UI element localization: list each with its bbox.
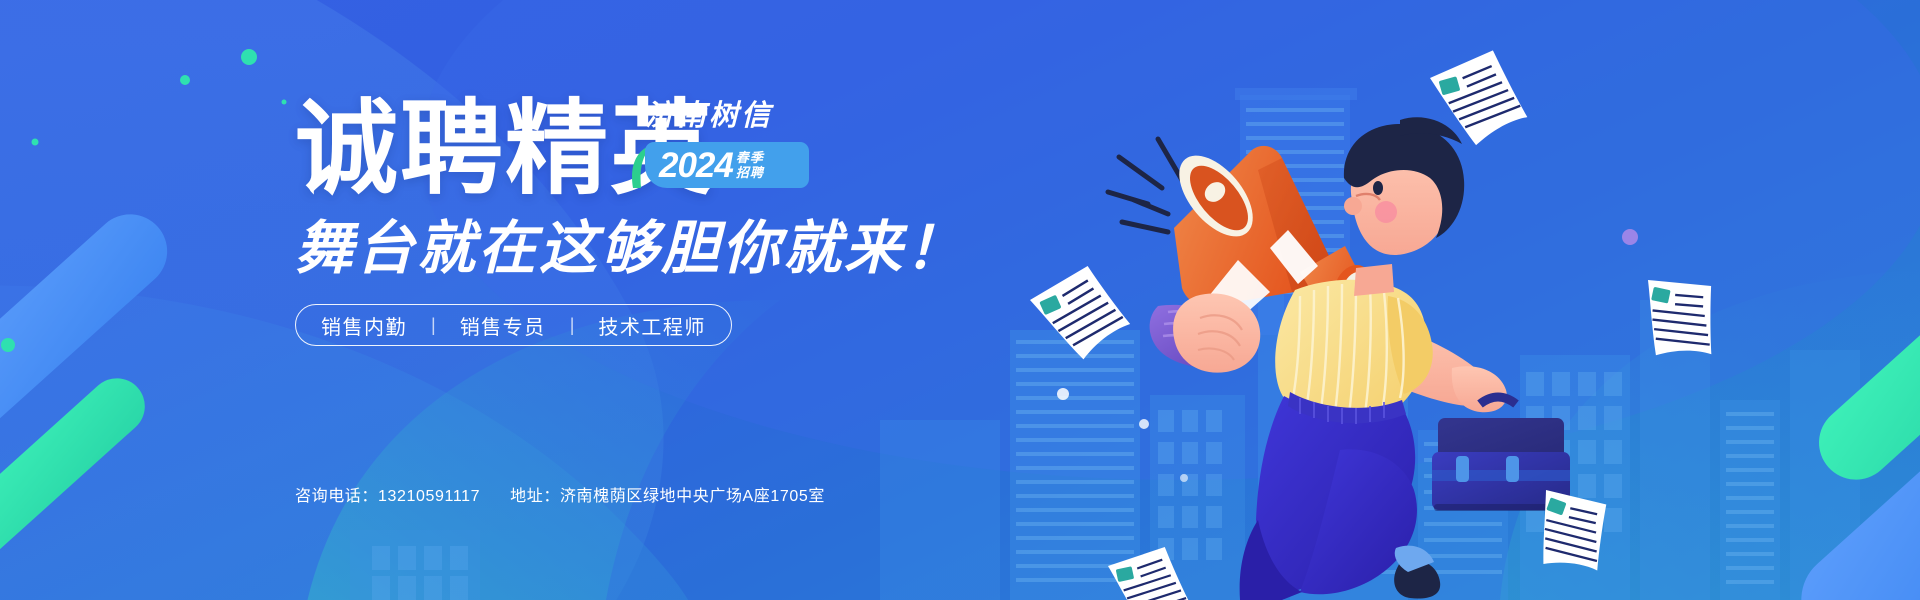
contact-phone-value: 13210591117 <box>378 488 480 505</box>
contact-address-label: 地址： <box>510 488 560 505</box>
tag-separator: | <box>570 315 575 336</box>
subtitle: 舞台就在这够胆你就来！ <box>295 220 1055 278</box>
contact-address-value: 济南槐荫区绿地中央广场A座1705室 <box>560 488 825 505</box>
job-tag-3[interactable]: 技术工程师 <box>598 311 706 340</box>
headline-row: 诚聘精英 济南树信 2024 春季 招聘 <box>295 88 1055 200</box>
resume-document-icon <box>1107 544 1194 600</box>
resume-document-icon <box>1427 46 1530 152</box>
banner-text-block: 诚聘精英 济南树信 2024 春季 招聘 <box>295 88 1055 348</box>
badge-season-line2: 招聘 <box>736 165 764 180</box>
contact-phone-label: 咨询电话： <box>295 488 378 505</box>
tag-separator: | <box>431 315 436 336</box>
recruitment-banner: 诚聘精英 济南树信 2024 春季 招聘 <box>0 0 1920 600</box>
head <box>1344 117 1464 255</box>
job-tags-pill: 销售内勤 | 销售专员 | 技术工程师 <box>295 304 732 346</box>
resume-document-icon <box>1633 273 1725 367</box>
job-tag-1[interactable]: 销售内勤 <box>321 311 407 340</box>
contact-phone: 咨询电话：13210591117 <box>295 482 480 506</box>
brand-cluster: 济南树信 2024 春季 招聘 <box>631 102 821 188</box>
badge-year: 2024 <box>659 148 733 183</box>
job-tag-2[interactable]: 销售专员 <box>460 311 546 340</box>
neck <box>1354 264 1394 296</box>
recruitment-badge: 2024 春季 招聘 <box>631 142 809 188</box>
badge-plate: 2024 春季 招聘 <box>645 142 809 188</box>
contact-row: 咨询电话：13210591117 地址：济南槐荫区绿地中央广场A座1705室 <box>295 482 825 506</box>
sound-rays <box>1108 139 1182 232</box>
shoe-front <box>1394 546 1440 599</box>
contact-address: 地址：济南槐荫区绿地中央广场A座1705室 <box>510 482 825 506</box>
company-name: 济南树信 <box>631 102 821 131</box>
badge-season: 春季 招聘 <box>736 151 764 180</box>
hand-holding-case <box>1452 366 1507 412</box>
badge-season-line1: 春季 <box>736 150 764 165</box>
